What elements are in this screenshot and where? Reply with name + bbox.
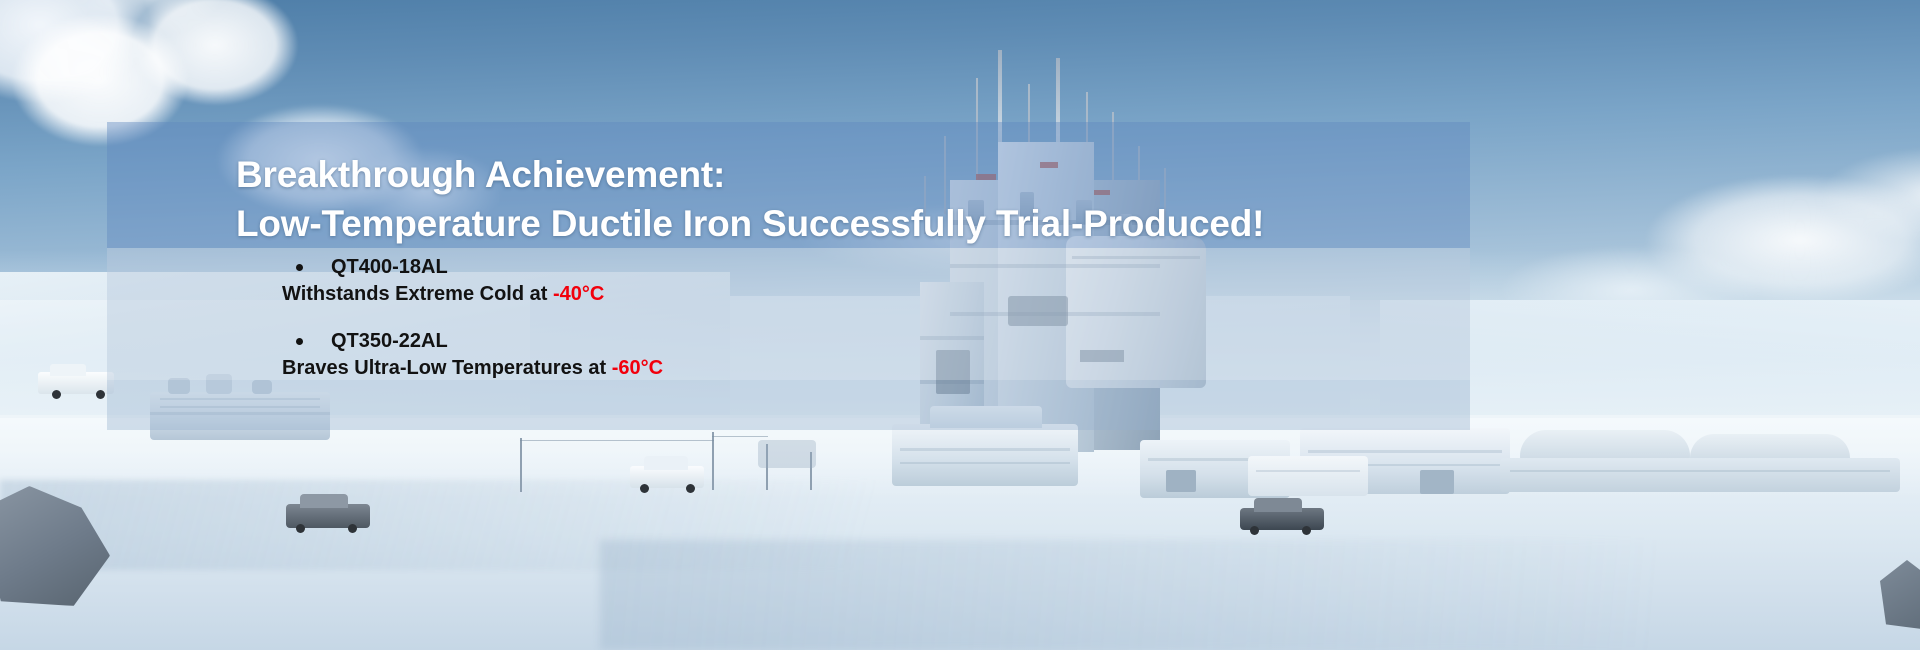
bullet-grade-row: QT400-18AL <box>282 255 1432 279</box>
snow-shadow <box>600 540 1920 650</box>
page-title: Breakthrough Achievement: Low-Temperatur… <box>236 156 1456 242</box>
title-line-2: Low-Temperature Ductile Iron Successfull… <box>236 205 1456 242</box>
temperature-value: -40°C <box>553 283 604 305</box>
banner-stage: Breakthrough Achievement: Low-Temperatur… <box>0 0 1920 650</box>
temperature-value: -60°C <box>612 357 663 379</box>
bullet-dot-icon <box>296 264 303 271</box>
bullet-grade-row: QT350-22AL <box>282 329 1432 353</box>
list-item: QT350-22AL Braves Ultra-Low Temperatures… <box>282 329 1432 381</box>
vehicle <box>1248 456 1368 496</box>
grade-label: QT350-22AL <box>331 329 448 353</box>
feature-list: QT400-18AL Withstands Extreme Cold at -4… <box>282 255 1432 403</box>
bullet-dot-icon <box>296 338 303 345</box>
description-text: Withstands Extreme Cold at <box>282 283 547 305</box>
list-item: QT400-18AL Withstands Extreme Cold at -4… <box>282 255 1432 307</box>
bullet-description-row: Braves Ultra-Low Temperatures at -60°C <box>282 355 1432 381</box>
description-text: Braves Ultra-Low Temperatures at <box>282 357 606 379</box>
promo-overlay-panel: Breakthrough Achievement: Low-Temperatur… <box>107 122 1470 430</box>
title-line-1: Breakthrough Achievement: <box>236 156 1456 193</box>
bullet-description-row: Withstands Extreme Cold at -40°C <box>282 281 1432 307</box>
grade-label: QT400-18AL <box>331 255 448 279</box>
facility-building <box>892 424 1078 486</box>
